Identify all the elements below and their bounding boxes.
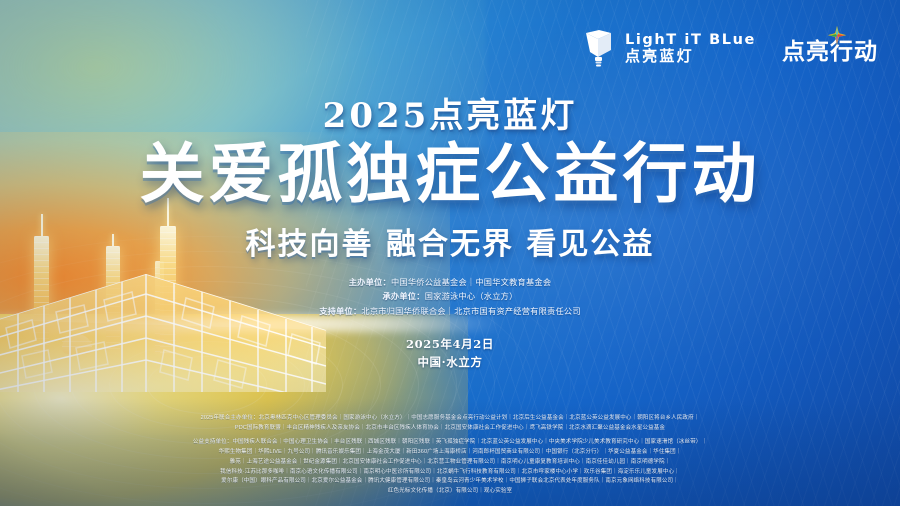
event-date: 2025年4月2日 [0, 336, 900, 354]
poster-canvas: LighT iT BLue 点亮蓝灯 点亮行动 2025点亮蓝灯 关爱孤独症公益… [0, 0, 900, 506]
title-block: 2025点亮蓝灯 关爱孤独症公益行动 科技向善 融合无界 看见公益 [0, 88, 900, 263]
supporters-group: 公益支持单位：中国残疾人联合会｜中国心理卫生协会｜丰台区残联｜西城区残联｜朝阳区… [16, 438, 884, 497]
title-subtitle: 科技向善 融合无界 看见公益 [0, 219, 900, 263]
light-it-blue-logo[interactable]: LighT iT BLue 点亮蓝灯 [582, 30, 756, 68]
organizer-block: 主办单位：中国华侨公益基金会｜中国华文教育基金会 承办单位：国家游泳中心（水立方… [0, 276, 900, 319]
fine-print-line: PDC国际教育联盟｜丰台区精神残疾人及亲友协会｜北京市丰台区残疾人体育协会｜北京… [16, 424, 884, 434]
organizer-value: 国家游泳中心（水立方） [425, 292, 518, 301]
organizer-row: 主办单位：中国华侨公益基金会｜中国华文教育基金会 [0, 276, 900, 290]
fine-print-line: 雅苑｜上海艺途公益基金会｜世纪金源集团｜北京国安体康社会工作促进中心｜北京营工物… [16, 458, 884, 468]
fine-print-block: 2025年联合主办单位：北京奥林匹克中心区管理委员会｜国家游泳中心（水立方）｜中… [0, 414, 900, 502]
organizer-value: 中国华侨公益基金会｜中国华文教育基金会 [391, 278, 551, 287]
fine-print-line: 华熙生物集团｜华熙LIVE｜九号公司｜腾讯音乐娱乐集团｜上海金茂大厦｜新田360… [16, 448, 884, 458]
event-location: 中国·水立方 [0, 354, 900, 372]
dianliang-action-logo[interactable]: 点亮行动 [782, 32, 878, 66]
header-logo-group: LighT iT BLue 点亮蓝灯 点亮行动 [582, 30, 878, 68]
fine-print-line: 爱尔康（中国）眼科产品有限公司｜北京爱尔公益基金会｜腾讯大健康管理有限公司｜秦皇… [16, 477, 884, 487]
colorful-star-icon [826, 25, 848, 52]
organizer-row: 支持单位：北京市归国华侨联合会｜北京市国有资产经营有限责任公司 [0, 305, 900, 319]
organizer-row: 承办单位：国家游泳中心（水立方） [0, 290, 900, 304]
organizer-label: 主办单位： [349, 278, 391, 287]
organizer-value: 北京市归国华侨联合会｜北京市国有资产经营有限责任公司 [361, 307, 580, 316]
co-organizers-group: 2025年联合主办单位：北京奥林匹克中心区管理委员会｜国家游泳中心（水立方）｜中… [16, 414, 884, 434]
title-year: 2025点亮蓝灯 [0, 88, 900, 137]
fine-print-line: 我信科技·江苏比那多咖啡｜南京心语文化传播有限公司｜南京明心中医诊所有限公司｜北… [16, 468, 884, 478]
light-it-blue-chinese: 点亮蓝灯 [625, 48, 694, 65]
blue-lightbulb-icon [582, 30, 616, 68]
organizer-label: 支持单位： [319, 307, 361, 316]
light-it-blue-english: LighT iT BLue [625, 32, 756, 48]
organizer-label: 承办单位： [382, 292, 424, 301]
fine-print-line: 2025年联合主办单位：北京奥林匹克中心区管理委员会｜国家游泳中心（水立方）｜中… [16, 414, 884, 424]
event-details: 2025年4月2日 中国·水立方 [0, 336, 900, 372]
fine-print-line: 红色光标文化传播（北京）有限公司｜观心实验室 [16, 487, 884, 497]
title-main: 关爱孤独症公益行动 [0, 141, 900, 207]
fine-print-line: 公益支持单位：中国残疾人联合会｜中国心理卫生协会｜丰台区残联｜西城区残联｜朝阳区… [16, 438, 884, 448]
